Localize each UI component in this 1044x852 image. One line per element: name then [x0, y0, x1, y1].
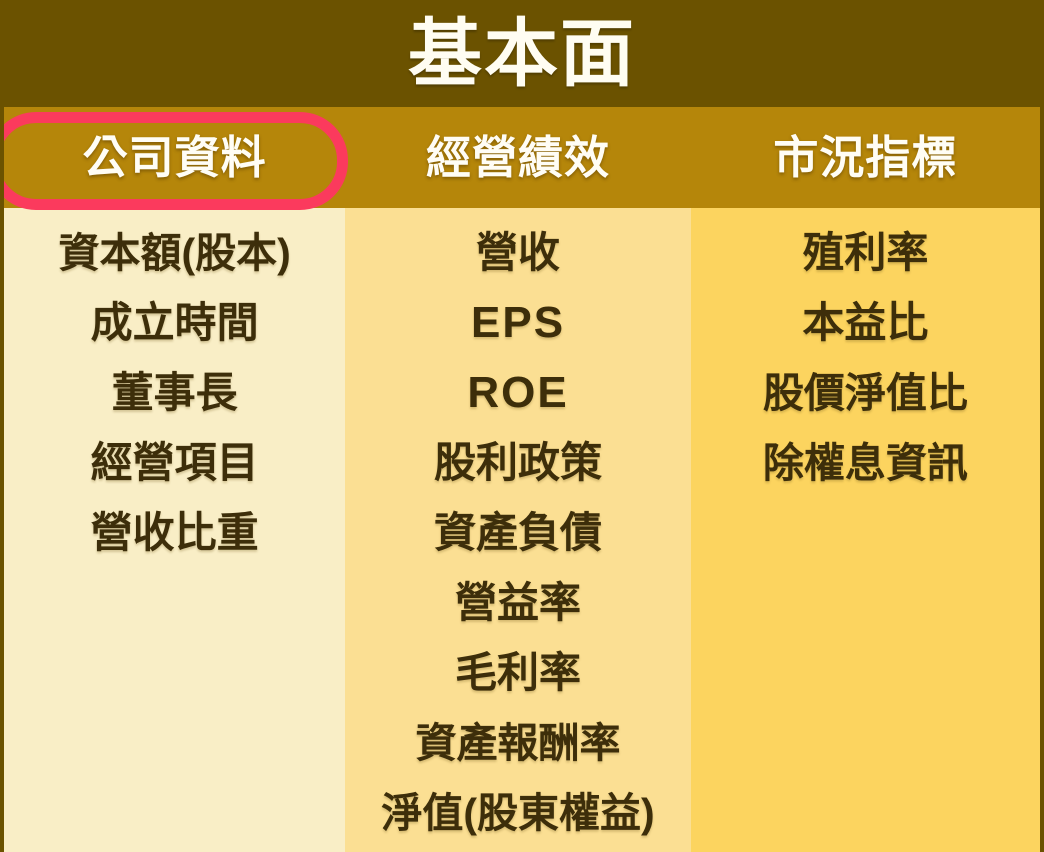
list-item: 淨值(股東權益): [345, 778, 690, 848]
list-item: 除權息資訊: [691, 428, 1040, 498]
list-item: 營益率: [345, 568, 690, 638]
list-item: 董事長: [4, 358, 345, 428]
list-item: 營收: [345, 218, 690, 288]
list-item: 營收比重: [4, 498, 345, 568]
tab-label: 市況指標: [773, 135, 957, 180]
infographic-root: 基本面 公司資料 經營績效 市況指標 資本額(股本) 成立時間 董事長 經營項目…: [0, 0, 1044, 852]
list-item: 本益比: [691, 288, 1040, 358]
list-item: 資產報酬率: [345, 708, 690, 778]
list-item: 股利政策: [345, 428, 690, 498]
list-item: 毛利率: [345, 638, 690, 708]
tab-market-indicators[interactable]: 市況指標: [691, 107, 1040, 208]
category-columns: 資本額(股本) 成立時間 董事長 經營項目 營收比重 營收 EPS ROE 股利…: [4, 208, 1040, 852]
page-title: 基本面: [408, 17, 636, 91]
tab-operating-performance[interactable]: 經營績效: [345, 107, 690, 208]
list-item: 殖利率: [691, 218, 1040, 288]
tab-company-data[interactable]: 公司資料: [4, 107, 345, 208]
column-company-data: 資本額(股本) 成立時間 董事長 經營項目 營收比重: [4, 208, 345, 852]
list-item: 成立時間: [4, 288, 345, 358]
title-band: 基本面: [4, 0, 1040, 107]
tab-label: 公司資料: [83, 135, 267, 180]
list-item: 經營項目: [4, 428, 345, 498]
list-item: EPS: [345, 288, 690, 358]
column-market-indicators: 殖利率 本益比 股價淨值比 除權息資訊: [691, 208, 1040, 852]
tab-label: 經營績效: [426, 135, 610, 180]
list-item: 資本額(股本): [4, 218, 345, 288]
list-item: 股價淨值比: [691, 358, 1040, 428]
list-item: 資產負債: [345, 498, 690, 568]
list-item: ROE: [345, 358, 690, 428]
column-operating-performance: 營收 EPS ROE 股利政策 資產負債 營益率 毛利率 資產報酬率 淨值(股東…: [345, 208, 690, 852]
category-header-row: 公司資料 經營績效 市況指標: [4, 107, 1040, 208]
